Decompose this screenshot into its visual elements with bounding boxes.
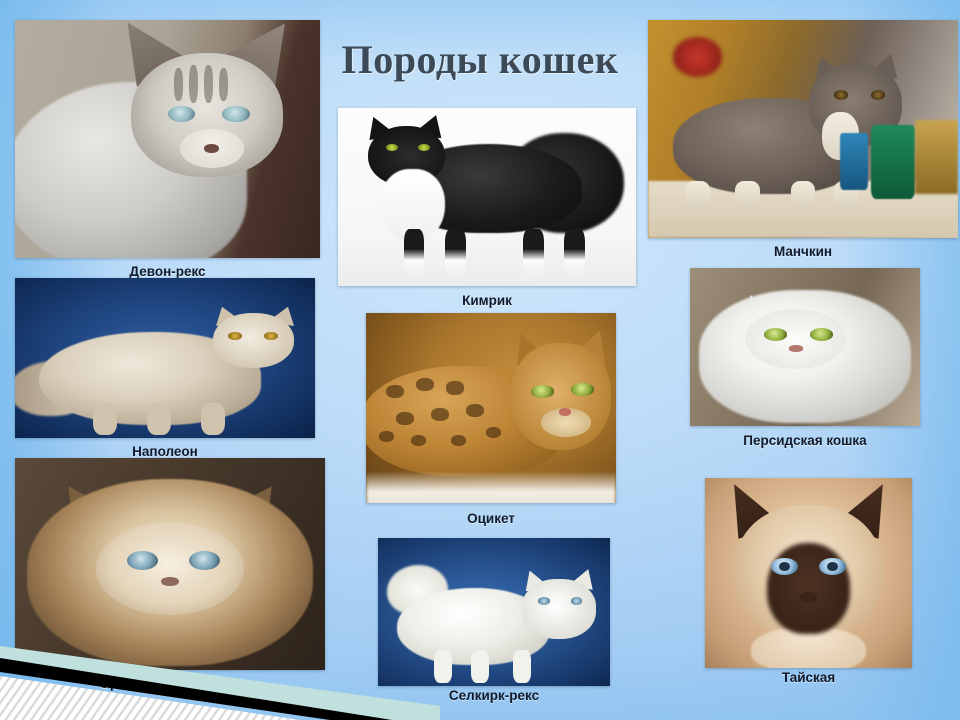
breed-card-cymric[interactable]: Кимрик (338, 108, 636, 286)
breed-label-oriental: Ориентальная кошка (99, 676, 240, 691)
breed-label-selkirk-rex: Селкирк-рекс (449, 688, 539, 703)
breed-label-napoleon: Наполеон (132, 444, 198, 459)
breed-photo-munchkin (648, 20, 958, 238)
breed-photo-selkirk-rex (378, 538, 610, 686)
breed-card-napoleon[interactable]: Наполеон (15, 278, 315, 438)
breed-label-persian: Персидская кошка (743, 433, 866, 448)
breed-card-munchkin[interactable]: Манчкин (648, 20, 958, 238)
breed-label-munchkin: Манчкин (774, 244, 832, 259)
breed-photo-persian (690, 268, 920, 426)
breed-card-thai[interactable]: Тайская (705, 478, 912, 668)
breed-photo-devon-rex (15, 20, 320, 258)
breed-photo-cymric (338, 108, 636, 286)
breed-photo-napoleon (15, 278, 315, 438)
breed-label-cymric: Кимрик (462, 293, 512, 308)
breed-photo-ocicat (366, 313, 616, 503)
breed-photo-oriental (15, 458, 325, 670)
breed-card-oriental[interactable]: Ориентальная кошка (15, 458, 325, 670)
breed-photo-thai (705, 478, 912, 668)
breed-card-devon-rex[interactable]: Девон-рекс (15, 20, 320, 258)
breed-label-devon-rex: Девон-рекс (129, 264, 205, 279)
breed-card-persian[interactable]: Персидская кошка (690, 268, 920, 426)
slide: Породы кошек Девон-рекс (0, 0, 960, 720)
breed-label-thai: Тайская (782, 670, 835, 685)
breed-card-selkirk-rex[interactable]: Селкирк-рекс (378, 538, 610, 686)
breed-card-ocicat[interactable]: Оцикет (366, 313, 616, 503)
breed-label-ocicat: Оцикет (467, 511, 515, 526)
